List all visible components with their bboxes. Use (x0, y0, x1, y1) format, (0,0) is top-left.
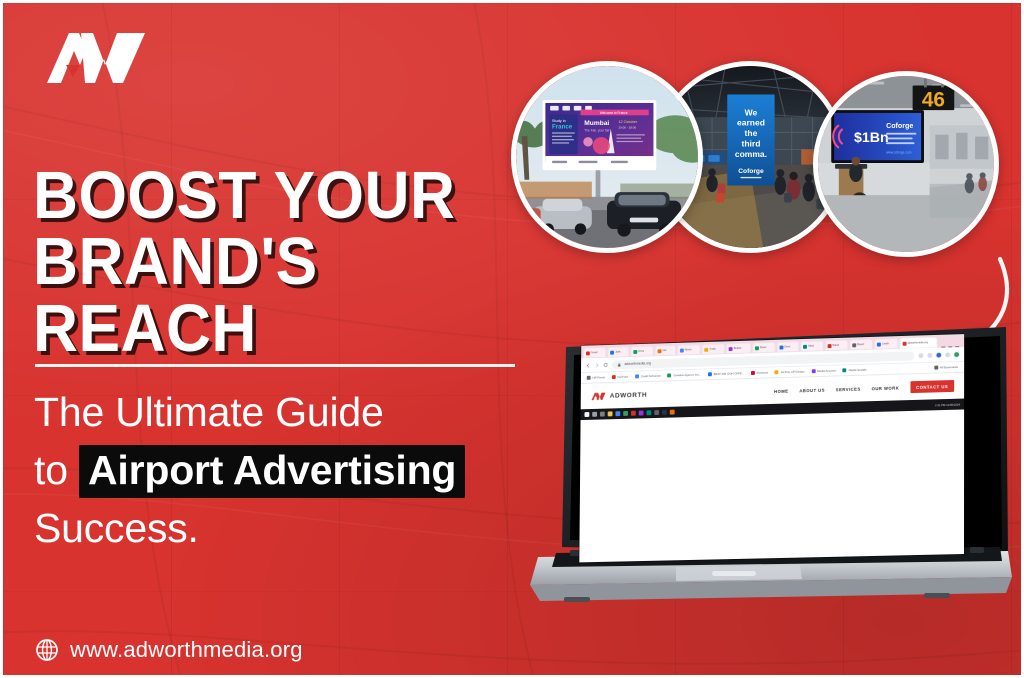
maximize-icon (948, 346, 952, 347)
browser-tab[interactable]: Builder (726, 343, 751, 355)
svg-text:the: the (745, 128, 758, 138)
subhead-highlight: Airport Advertising (79, 445, 465, 498)
subhead-line-3: Success. (34, 499, 554, 557)
taskbar-clock: 2:31 PM 12/06/2024 (935, 402, 960, 407)
promo-banner: BOOST YOUR BRAND'S REACH The Ultimate Gu… (0, 0, 1024, 678)
bookmark-star-icon (927, 352, 932, 357)
svg-text:12 October: 12 October (618, 120, 637, 124)
browser-tab[interactable]: Drive (631, 346, 654, 357)
bookmark-item[interactable]: Media Socials (843, 368, 867, 373)
browser-tab[interactable]: Meet (800, 340, 823, 352)
website-url-row[interactable]: www.adworthmedia.org (35, 637, 303, 663)
task-view-icon[interactable] (600, 412, 605, 417)
nav-contact-us-button[interactable]: CONTACT US (910, 380, 954, 393)
subhead-line-2: to Airport Advertising (34, 441, 554, 499)
settings-icon[interactable] (654, 410, 659, 415)
bookmark-item[interactable]: YouTube (611, 375, 628, 379)
browser-tab[interactable]: Docs (777, 341, 800, 353)
profile-icon (945, 352, 950, 357)
bookmark-item[interactable]: Ad Pop UP Design (775, 370, 805, 375)
headline-line-1: BOOST YOUR (33, 158, 455, 233)
browser-tab[interactable]: Sheet (752, 342, 776, 354)
browser-action-icons[interactable] (918, 352, 959, 358)
laptop-screen: Gmail Jobs Drive Ads Admin Analy Builder… (579, 334, 964, 562)
bookmark-item[interactable]: Creative Agency Ind... (668, 373, 701, 378)
start-icon[interactable] (584, 412, 589, 417)
browser-tab[interactable]: Board (849, 339, 873, 351)
extension-icon (936, 352, 941, 357)
nav-our-work[interactable]: OUR WORK (872, 385, 900, 391)
search-icon[interactable] (592, 412, 597, 417)
close-icon (955, 346, 959, 347)
browser-tab[interactable]: Gmail (583, 347, 606, 358)
bookmark-item[interactable]: Pinterest (751, 371, 768, 375)
music-icon[interactable] (646, 410, 651, 415)
svg-text:10:00 - 18:00: 10:00 - 18:00 (618, 126, 636, 130)
svg-text:We: We (745, 107, 758, 117)
svg-text:Coforge: Coforge (738, 168, 764, 175)
svg-text:Mumbai: Mumbai (584, 120, 609, 127)
browser-tab-active[interactable]: adworthmedia.org (899, 337, 937, 349)
outdoor-billboard-photo: Study in France Welcome to France Mumbai… (511, 61, 703, 253)
mail-icon[interactable] (623, 411, 628, 416)
site-nav[interactable]: HOME ABOUT US SERVICES OUR WORK CONTACT … (774, 380, 954, 397)
svg-text:comma.: comma. (735, 149, 767, 159)
subheadline: The Ultimate Guide to Airport Advertisin… (34, 383, 554, 558)
aw-monogram-logo (39, 25, 155, 87)
svg-text:Welcome to France: Welcome to France (600, 111, 628, 115)
headline-line-2: BRAND'S REACH (33, 229, 526, 362)
airport-gate-screen-photo: 46 $1Bn Coforge www.coforge.com (813, 71, 999, 257)
aw-monogram-red-icon (590, 391, 607, 401)
headline: BOOST YOUR BRAND'S REACH (33, 163, 526, 362)
notes-icon[interactable] (670, 410, 675, 415)
browser-tab[interactable]: Analy (702, 343, 725, 354)
nav-home[interactable]: HOME (774, 388, 788, 393)
nav-about-us[interactable]: ABOUT US (799, 387, 825, 393)
headline-divider (35, 364, 515, 367)
svg-text:46: 46 (922, 88, 945, 111)
browser-tab[interactable]: Brand (824, 340, 848, 352)
svg-text:Study in: Study in (552, 119, 566, 123)
lock-icon (617, 362, 622, 367)
browser-tab[interactable]: Ads (654, 345, 675, 356)
website-url-text: www.adworthmedia.org (70, 637, 303, 663)
photos-icon[interactable] (639, 410, 644, 415)
svg-text:$1Bn: $1Bn (854, 130, 889, 146)
svg-text:earned: earned (737, 118, 765, 128)
svg-text:www.coforge.com: www.coforge.com (886, 151, 912, 155)
site-logo[interactable]: ADWORTH (590, 390, 647, 401)
browser-tab[interactable]: Jobs (607, 346, 629, 357)
svg-text:The Fair, your fair: The Fair, your fair (584, 128, 610, 132)
bookmark-item[interactable]: HR Portal (587, 375, 605, 379)
store-icon[interactable] (631, 411, 636, 416)
globe-icon (35, 638, 59, 662)
site-logo-word: ADWORTH (610, 391, 647, 399)
bookmark-item[interactable]: BEST AIR OOH OFFE... (708, 371, 744, 376)
bookmark-item[interactable]: Media Account (811, 369, 836, 374)
subhead-line-2-prefix: to (34, 447, 79, 493)
svg-text:Coforge: Coforge (886, 122, 913, 130)
bookmark-item[interactable]: Credit Schemes (635, 374, 661, 379)
forward-icon[interactable] (595, 362, 600, 367)
browser-icon[interactable] (615, 411, 620, 416)
svg-text:third: third (741, 139, 760, 149)
minimize-icon (941, 347, 945, 348)
menu-icon (954, 352, 959, 357)
browser-tab[interactable]: Leads (874, 338, 898, 350)
browser-tab[interactable]: Admin (677, 344, 701, 356)
address-text: adworthmedia.org (625, 361, 651, 366)
subhead-line-1: The Ultimate Guide (34, 383, 554, 441)
bookmark-overflow[interactable]: All Bookmarks (934, 365, 958, 370)
files-icon[interactable] (608, 411, 613, 416)
terminal-icon[interactable] (662, 410, 667, 415)
share-icon (918, 353, 923, 358)
svg-text:France: France (552, 124, 573, 131)
back-icon[interactable] (586, 363, 591, 368)
reload-icon[interactable] (603, 362, 608, 367)
nav-services[interactable]: SERVICES (836, 386, 861, 392)
